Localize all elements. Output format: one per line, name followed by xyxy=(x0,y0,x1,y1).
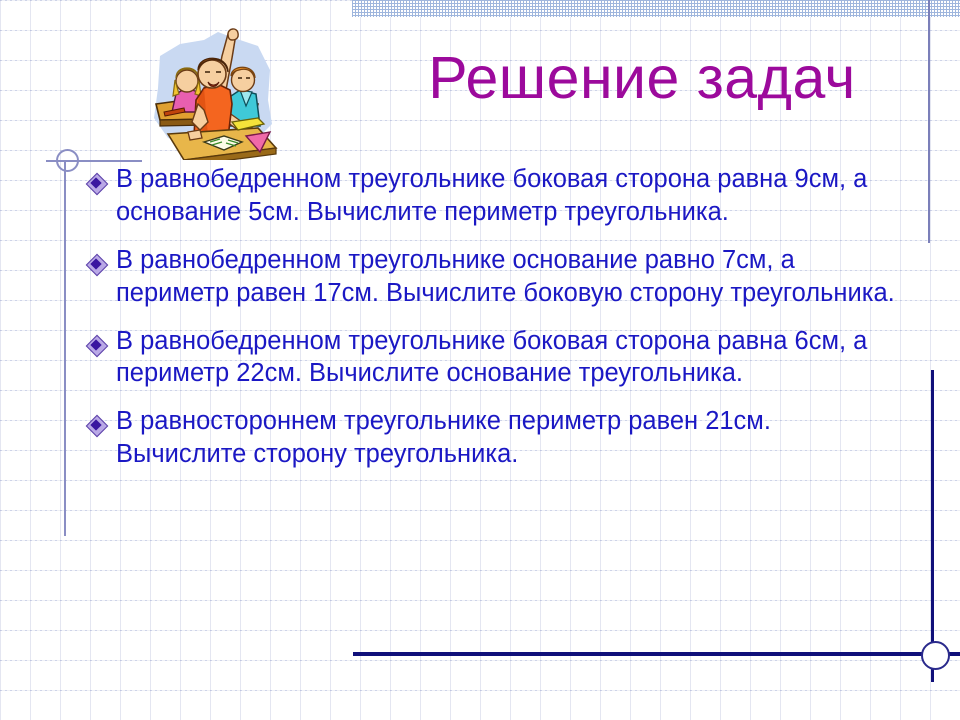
circle-node-bottom-right-decoration xyxy=(921,641,950,670)
problem-text: В равнобедренном треугольнике боковая ст… xyxy=(116,325,896,391)
vertical-rule-left-decoration xyxy=(64,160,66,536)
problem-text: В равностороннем треугольнике периметр р… xyxy=(116,405,896,471)
problem-text: В равнобедренном треугольнике боковая ст… xyxy=(116,163,896,229)
problem-list: В равнобедренном треугольнике боковая ст… xyxy=(86,163,896,486)
slide-canvas: Решение задач В равнобедренном треугольн… xyxy=(0,0,960,720)
list-item: В равностороннем треугольнике периметр р… xyxy=(86,405,896,471)
vertical-rule-bottom-right-decoration xyxy=(931,370,934,682)
diamond-bullet-icon xyxy=(86,163,116,193)
page-title: Решение задач xyxy=(352,48,932,110)
problem-text: В равнобедренном треугольнике основание … xyxy=(116,244,896,310)
diamond-bullet-icon xyxy=(86,244,116,274)
list-item: В равнобедренном треугольнике боковая ст… xyxy=(86,325,896,391)
diamond-bullet-icon xyxy=(86,405,116,435)
circle-node-top-left-decoration xyxy=(56,149,79,172)
list-item: В равнобедренном треугольнике основание … xyxy=(86,244,896,310)
diamond-bullet-icon xyxy=(86,325,116,355)
top-hatched-band-decoration xyxy=(352,0,960,17)
vertical-rule-top-right-decoration xyxy=(928,0,930,243)
students-in-classroom-clipart xyxy=(142,26,282,160)
list-item: В равнобедренном треугольнике боковая ст… xyxy=(86,163,896,229)
horizontal-rule-bottom-decoration xyxy=(353,652,960,656)
